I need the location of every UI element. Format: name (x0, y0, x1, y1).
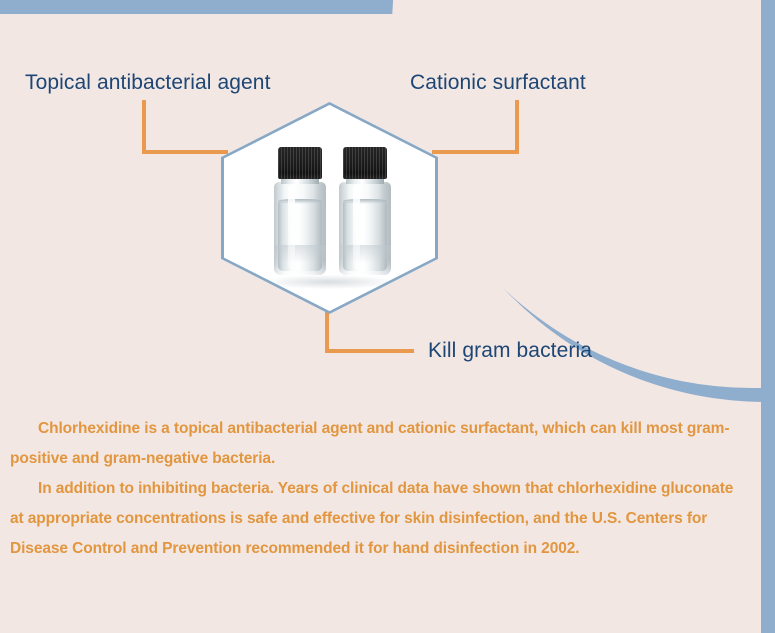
body-paragraph-2: In addition to inhibiting bacteria. Year… (10, 474, 745, 564)
hexagon-inner-panel (224, 105, 435, 311)
product-info-poster: Topical antibacterial agent Cationic sur… (0, 0, 775, 633)
connector-line-topical-vertical (142, 100, 146, 154)
vial-right-highlight (353, 185, 360, 269)
body-copy: Chlorhexidine is a topical antibacterial… (10, 414, 745, 564)
body-paragraph-1: Chlorhexidine is a topical antibacterial… (10, 414, 745, 474)
callout-label-kill-gram-bacteria: Kill gram bacteria (428, 339, 592, 363)
vial-left-meniscus (278, 199, 322, 204)
connector-line-topical-horizontal (142, 150, 228, 154)
vial-left-reflection (274, 245, 326, 263)
vial-left (272, 147, 328, 275)
connector-line-cationic-vertical (515, 100, 519, 154)
connector-line-kill-horizontal (325, 349, 414, 353)
right-accent-bar (761, 0, 775, 633)
vial-right-meniscus (343, 199, 387, 204)
connector-line-cationic-horizontal (432, 150, 519, 154)
corner-arc-mask (392, 0, 775, 388)
vials-photo (224, 105, 435, 311)
vial-left-highlight (288, 185, 295, 269)
vial-right (337, 147, 393, 275)
vial-left-cap (278, 147, 322, 179)
vial-right-reflection (339, 245, 391, 263)
callout-label-topical-antibacterial-agent: Topical antibacterial agent (25, 71, 271, 95)
vial-right-cap (343, 147, 387, 179)
callout-label-cationic-surfactant: Cationic surfactant (410, 71, 586, 95)
hexagon-product-figure (221, 102, 438, 314)
vial-shadow (264, 275, 394, 289)
